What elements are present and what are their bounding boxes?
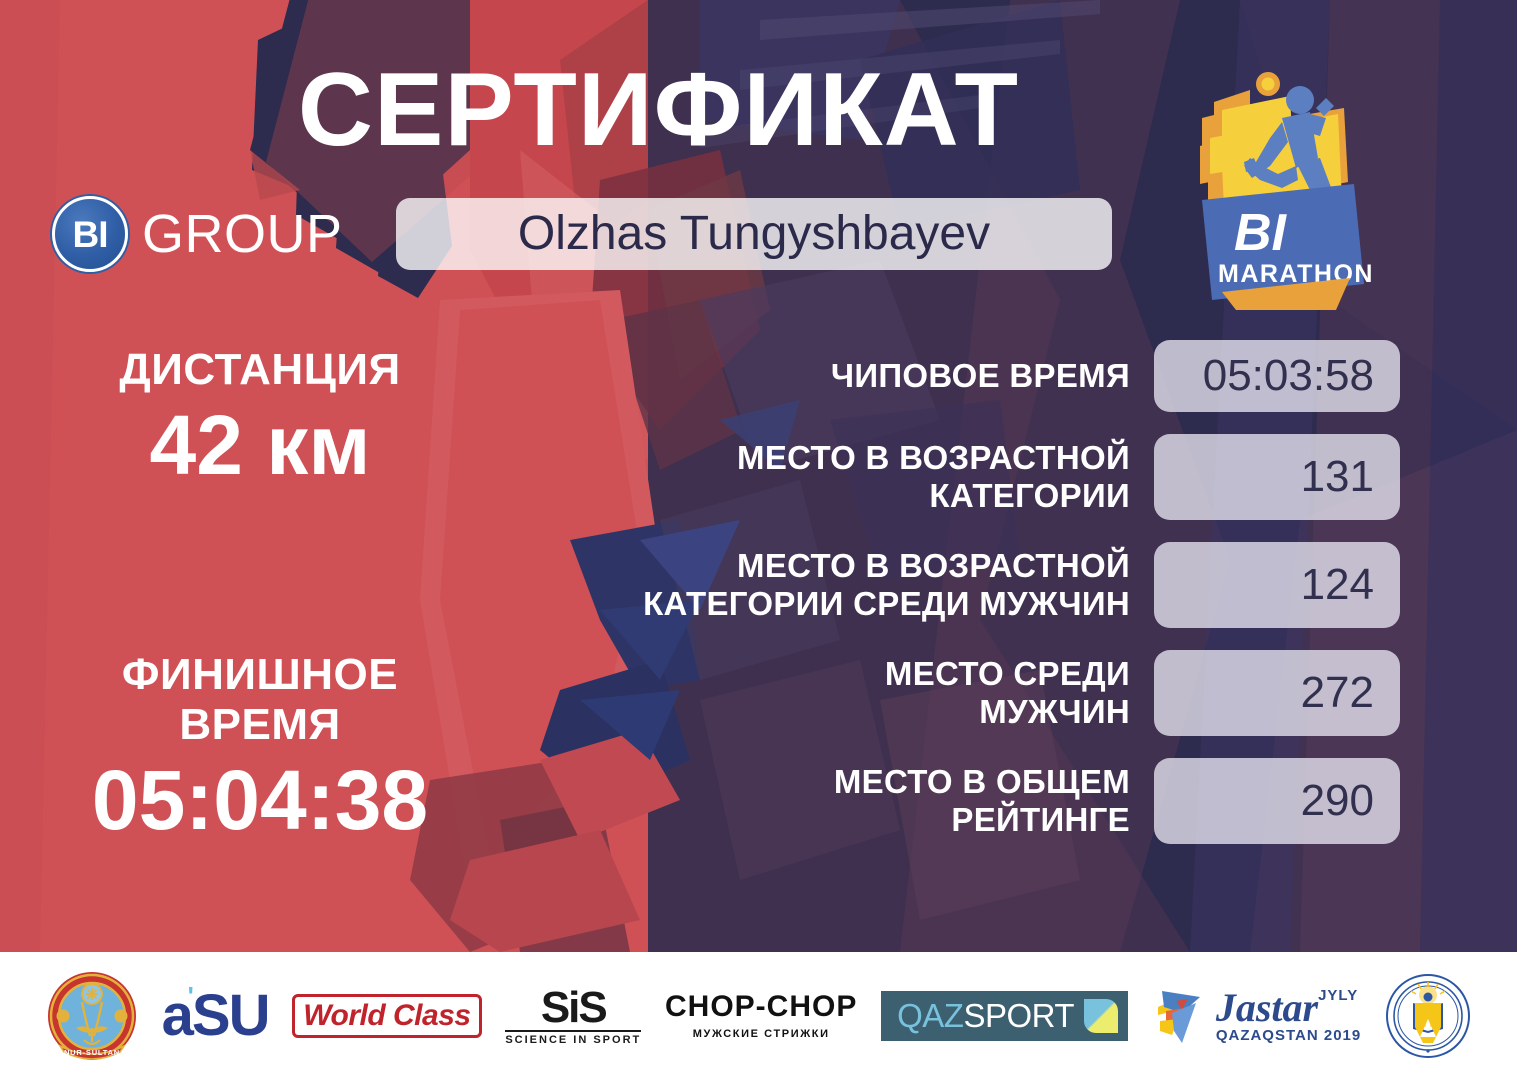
- bi-marathon-logo: BI MARATHON: [1178, 62, 1386, 310]
- jastar-wordmark: Jastar: [1216, 988, 1318, 1028]
- stat-value-pill: 131: [1154, 434, 1400, 520]
- athlete-name: Olzhas Tungyshbayev: [518, 208, 990, 260]
- finish-time-block: ФИНИШНОЕ ВРЕМЯ 05:04:38: [0, 650, 520, 846]
- stat-row: МЕСТО СРЕДИ МУЖЧИН 272: [600, 650, 1400, 736]
- stat-label-line1: МЕСТО В ВОЗРАСТНОЙ: [600, 547, 1130, 585]
- stat-value-pill: 05:03:58: [1154, 340, 1400, 412]
- stat-label-line2: КАТЕГОРИИ СРЕДИ МУЖЧИН: [600, 585, 1130, 623]
- distance-value: 42 км: [0, 399, 520, 491]
- stat-row: МЕСТО В ВОЗРАСТНОЙ КАТЕГОРИИ 131: [600, 434, 1400, 520]
- jastar-tagline: QAZAQSTAN 2019: [1216, 1028, 1361, 1044]
- stat-value-pill: 124: [1154, 542, 1400, 628]
- stat-value: 124: [1301, 561, 1374, 609]
- athlete-name-field: Olzhas Tungyshbayev: [396, 198, 1112, 270]
- certificate-page: СЕРТИФИКАТ BI GROUP Olzhas Tungyshbayev: [0, 0, 1517, 1080]
- qazsport-sport: SPORT: [963, 999, 1074, 1033]
- finish-time-label-line1: ФИНИШНОЕ: [0, 650, 520, 700]
- sponsor-nur-sultan: NUR-SULTAN: [46, 968, 138, 1064]
- stat-row: МЕСТО В ОБЩЕМ РЕЙТИНГЕ 290: [600, 758, 1400, 844]
- bi-marathon-mark-icon: BI MARATHON: [1178, 62, 1386, 310]
- stat-value: 05:03:58: [1203, 352, 1374, 400]
- artwork-panel: СЕРТИФИКАТ BI GROUP Olzhas Tungyshbayev: [0, 0, 1517, 952]
- stat-value: 272: [1301, 669, 1374, 717]
- stat-value-pill: 272: [1154, 650, 1400, 736]
- stat-label-line1: МЕСТО СРЕДИ: [600, 655, 1130, 693]
- sponsor-bar: NUR-SULTAN ' aSU World Class SiS SCIENCE…: [0, 952, 1517, 1080]
- stat-label: ЧИПОВОЕ ВРЕМЯ: [600, 357, 1154, 395]
- stat-label-line2: КАТЕГОРИИ: [600, 477, 1130, 515]
- stat-value: 131: [1301, 453, 1374, 501]
- stat-label-line2: МУЖЧИН: [600, 693, 1130, 731]
- stat-value-pill: 290: [1154, 758, 1400, 844]
- sponsor-jastar: Jastar JYLY QAZAQSTAN 2019: [1152, 968, 1361, 1064]
- world-class-frame: World Class: [292, 994, 481, 1038]
- bi-group-word: GROUP: [142, 207, 343, 261]
- world-class-wordmark: World Class: [303, 1000, 470, 1032]
- stat-label: МЕСТО СРЕДИ МУЖЧИН: [600, 655, 1154, 731]
- sis-tagline: SCIENCE IN SPORT: [505, 1030, 641, 1047]
- ministry-emblem-icon: [1385, 973, 1471, 1059]
- stat-value: 290: [1301, 777, 1374, 825]
- marathon-bi-text: BI: [1234, 204, 1288, 262]
- distance-label: ДИСТАНЦИЯ: [0, 345, 520, 395]
- nur-sultan-emblem-icon: NUR-SULTAN: [46, 970, 138, 1062]
- qazsport-bar: QAZ SPORT: [881, 991, 1128, 1041]
- jastar-jyly: JYLY: [1318, 988, 1358, 1004]
- asu-wordmark: aSU: [162, 983, 269, 1048]
- finish-time-value: 05:04:38: [0, 754, 520, 846]
- bi-group-logo: BI GROUP: [52, 195, 343, 273]
- qazsport-square-icon: [1084, 999, 1118, 1033]
- sponsor-qazsport: QAZ SPORT: [881, 968, 1128, 1064]
- stat-label-line1: ЧИПОВОЕ ВРЕМЯ: [600, 357, 1130, 395]
- stat-label: МЕСТО В ВОЗРАСТНОЙ КАТЕГОРИИ СРЕДИ МУЖЧИ…: [600, 547, 1154, 623]
- stat-label: МЕСТО В ВОЗРАСТНОЙ КАТЕГОРИИ: [600, 439, 1154, 515]
- sis-wordmark: SiS: [505, 986, 641, 1030]
- svg-text:NUR-SULTAN: NUR-SULTAN: [64, 1048, 120, 1057]
- jastar-arrow-icon: [1152, 985, 1210, 1047]
- stat-row: ЧИПОВОЕ ВРЕМЯ 05:03:58: [600, 340, 1400, 412]
- asu-apostrophe: ': [188, 983, 194, 1009]
- stat-row: МЕСТО В ВОЗРАСТНОЙ КАТЕГОРИИ СРЕДИ МУЖЧИ…: [600, 542, 1400, 628]
- finish-time-label-line2: ВРЕМЯ: [0, 700, 520, 750]
- sponsor-sis: SiS SCIENCE IN SPORT: [505, 968, 641, 1064]
- distance-block: ДИСТАНЦИЯ 42 км: [0, 345, 520, 491]
- marathon-word-text: MARATHON: [1218, 260, 1374, 288]
- stats-list: ЧИПОВОЕ ВРЕМЯ 05:03:58 МЕСТО В ВОЗРАСТНО…: [600, 340, 1400, 866]
- chop-chop-wordmark: CHOP-CHOP: [665, 991, 857, 1023]
- sponsor-chop-chop: CHOP-CHOP МУЖСКИЕ СТРИЖКИ: [665, 968, 857, 1064]
- sponsor-world-class: World Class: [292, 968, 481, 1064]
- stat-label-line1: МЕСТО В ОБЩЕМ: [600, 763, 1130, 801]
- bi-badge-icon: BI: [52, 196, 128, 272]
- bi-badge-label: BI: [73, 216, 108, 253]
- sponsor-asu: ' aSU: [162, 968, 269, 1064]
- qazsport-qaz: QAZ: [897, 999, 963, 1033]
- stat-label: МЕСТО В ОБЩЕМ РЕЙТИНГЕ: [600, 763, 1154, 839]
- chop-chop-tagline: МУЖСКИЕ СТРИЖКИ: [665, 1028, 857, 1041]
- sponsor-ministry: [1385, 968, 1471, 1064]
- stat-label-line2: РЕЙТИНГЕ: [600, 801, 1130, 839]
- stat-label-line1: МЕСТО В ВОЗРАСТНОЙ: [600, 439, 1130, 477]
